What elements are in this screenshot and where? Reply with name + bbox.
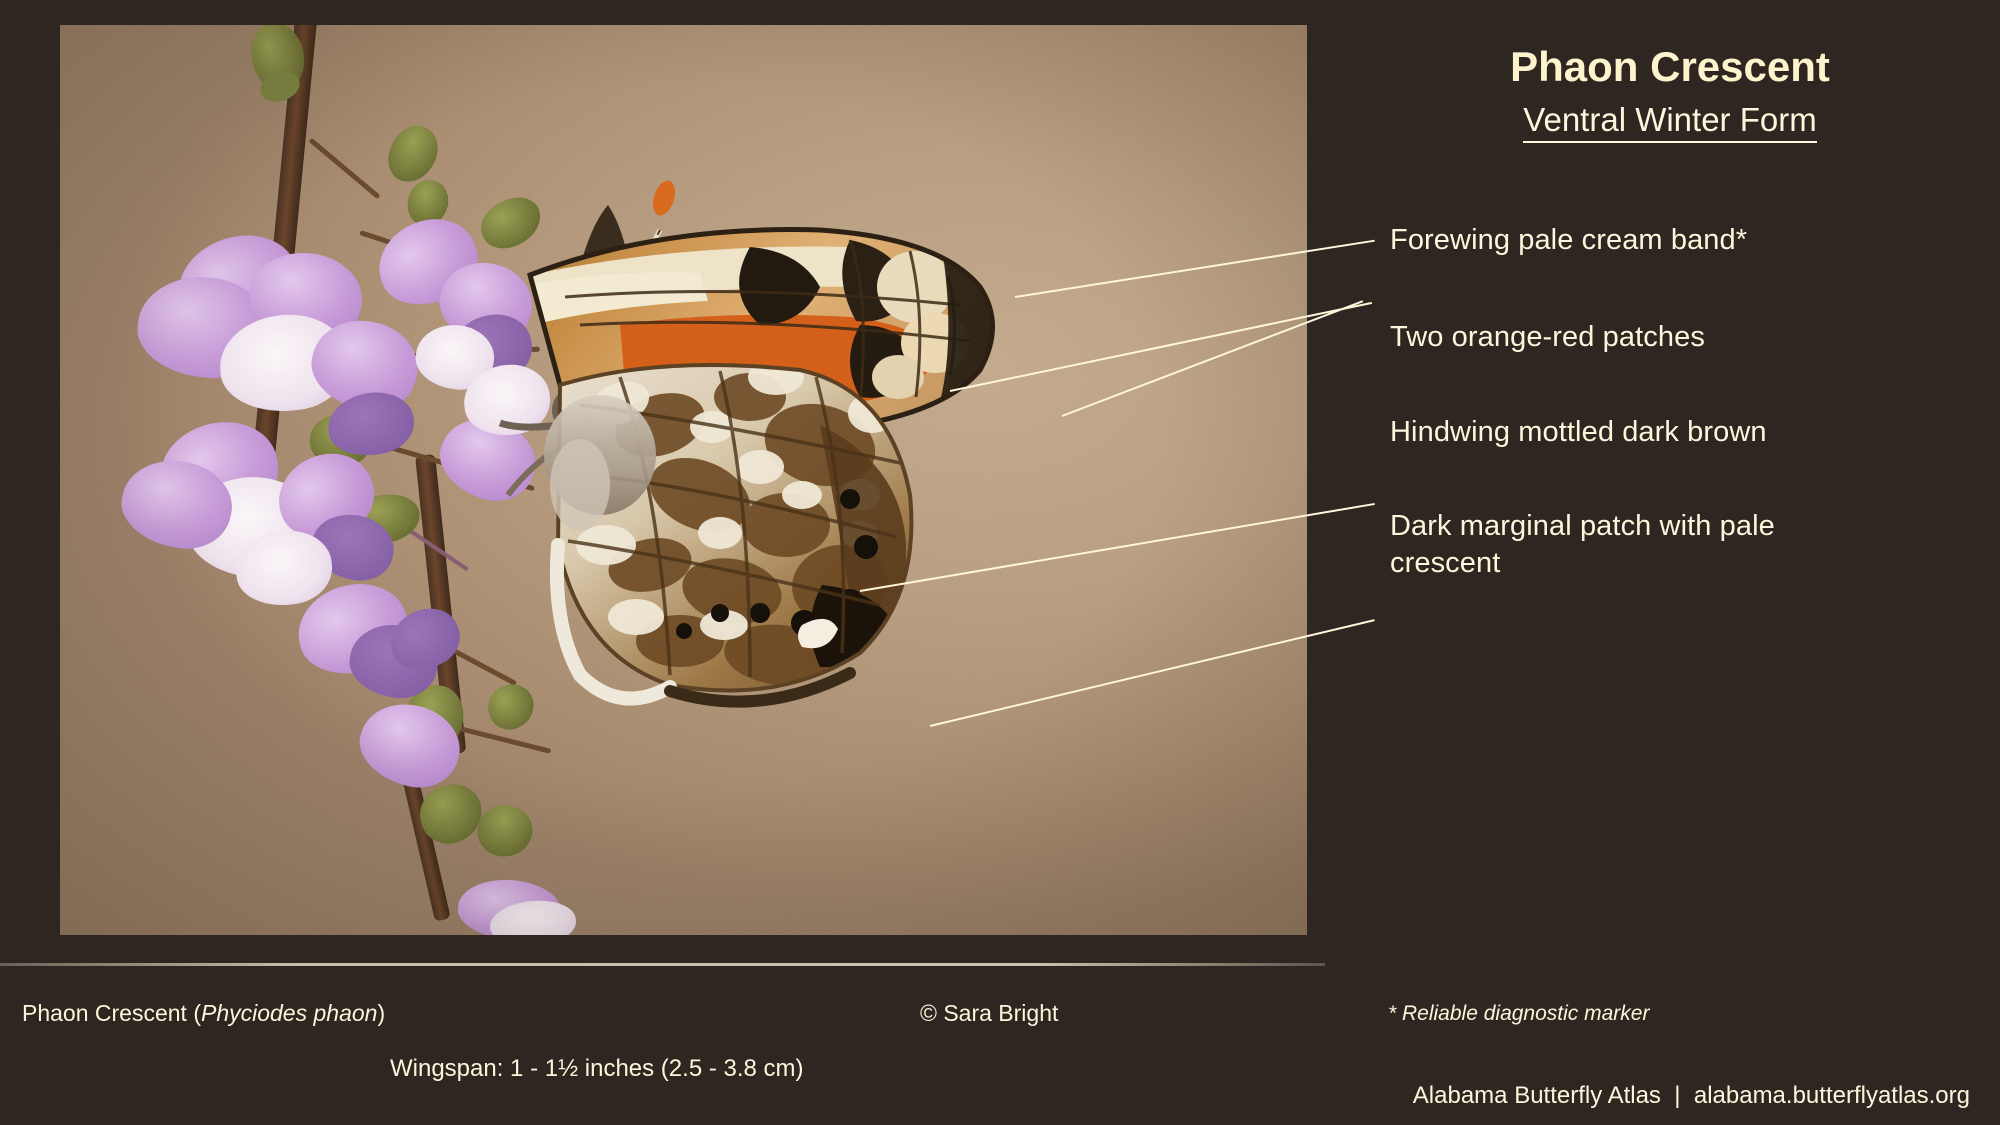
slide-canvas: Phaon Crescent Ventral Winter Form Forew… bbox=[0, 0, 2000, 1125]
footer-organization: Alabama Butterfly Atlas bbox=[1413, 1082, 1661, 1109]
caption-scientific-name: Phyciodes phaon bbox=[201, 1000, 377, 1026]
annotation-forewing-band: Forewing pale cream band* bbox=[1390, 222, 1970, 259]
page-subtitle: Ventral Winter Form bbox=[1390, 101, 1950, 139]
caption-close-paren: ) bbox=[377, 1000, 385, 1026]
photo-caption: Phaon Crescent (Phyciodes phaon) bbox=[22, 1000, 385, 1027]
page-subtitle-text: Ventral Winter Form bbox=[1523, 101, 1816, 143]
diagnostic-marker-note: * Reliable diagnostic marker bbox=[1388, 1002, 1649, 1026]
photo-vignette bbox=[60, 25, 1307, 935]
caption-common-name: Phaon Crescent ( bbox=[22, 1000, 201, 1026]
footer-website[interactable]: alabama.butterflyatlas.org bbox=[1694, 1082, 1970, 1109]
annotation-hindwing-mottle: Hindwing mottled dark brown bbox=[1390, 414, 1970, 451]
annotation-orange-patches: Two orange-red patches bbox=[1390, 319, 1970, 356]
caption-divider bbox=[0, 963, 1325, 966]
footer: Alabama Butterfly Atlas | alabama.butter… bbox=[1413, 1082, 1970, 1110]
annotation-marginal-patch: Dark marginal patch with pale crescent bbox=[1390, 508, 1870, 582]
wingspan-text: Wingspan: 1 - 1½ inches (2.5 - 3.8 cm) bbox=[390, 1055, 804, 1083]
page-title: Phaon Crescent bbox=[1390, 43, 1950, 91]
butterfly-photograph bbox=[60, 25, 1307, 935]
footer-separator: | bbox=[1674, 1082, 1680, 1109]
photo-credit: © Sara Bright bbox=[920, 1000, 1058, 1027]
